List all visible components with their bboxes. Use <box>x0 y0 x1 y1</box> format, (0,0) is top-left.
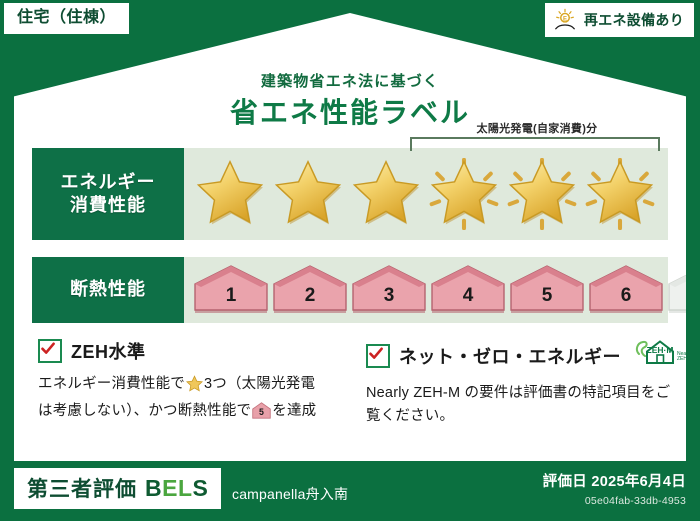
evaluation-date-value: 2025年6月4日 <box>591 474 686 490</box>
svg-text:5: 5 <box>259 408 264 418</box>
bels-jp-label: 第三者評価 <box>27 473 137 503</box>
sparkling-star-icon <box>582 157 658 231</box>
zeh-m-logo: ZEH·M Nearly ZEH-M <box>634 338 698 373</box>
evaluation-id: 05e04fab-33db-4953 <box>585 495 686 507</box>
insulation-level-scale: 1 2 3 4 5 6 <box>184 257 668 323</box>
insulation-performance-row: 断熱性能 1 2 3 4 <box>32 257 668 323</box>
house-badge-icon: 4 <box>430 264 506 316</box>
house-badge-icon: 1 <box>193 264 269 316</box>
energy-label-line2: 消費性能 <box>70 194 146 217</box>
house-badge-icon: 7 <box>667 264 700 316</box>
zeh-body-part1: エネルギー消費性能で <box>38 376 185 392</box>
evaluation-date-label: 評価日 <box>543 474 587 490</box>
bels-letters-el: EL <box>162 475 192 501</box>
net-zero-checkbox <box>366 344 390 368</box>
energy-star-band: 太陽光発電(自家消費)分 <box>184 148 668 240</box>
zeh-standard-body: エネルギー消費性能で3つ（太陽光発電は考慮しない）、かつ断熱性能で5を達成 <box>38 373 356 428</box>
bels-letter-s: S <box>193 475 209 501</box>
bels-energy-label: 建築物省エネ法に基づく 省エネ性能ラベル エネルギー 消費性能 太陽光発電(自家… <box>0 0 700 521</box>
house-badge-icon: 5 <box>509 264 585 316</box>
bels-certification-box: 第三者評価 BELS <box>14 468 221 509</box>
inline-house-level-icon: 5 <box>252 402 271 427</box>
energy-performance-label: エネルギー 消費性能 <box>32 148 184 240</box>
energy-label-line1: エネルギー <box>61 171 156 194</box>
category-tag: 住宅（住棟） <box>4 3 129 34</box>
insulation-level-band: 1 2 3 4 5 6 <box>184 257 668 323</box>
house-badge-icon: 6 <box>588 264 664 316</box>
star-icon <box>270 157 346 231</box>
red-check-icon <box>369 347 383 361</box>
house-badge-icon: 3 <box>351 264 427 316</box>
star-rating <box>184 148 668 240</box>
building-name: campanella舟入南 <box>232 484 348 504</box>
svg-text:ZEH-M: ZEH-M <box>677 356 693 362</box>
star-icon <box>348 157 424 231</box>
net-zero-title: ネット・ゼロ・エネルギー <box>399 343 621 369</box>
zeh-standard-checkbox <box>38 339 62 363</box>
zeh-standard-heading: ZEH水準 <box>38 338 356 364</box>
sparkling-star-icon <box>426 157 502 231</box>
net-zero-body: Nearly ZEH-M の要件は評価書の特記項目をご覧ください。 <box>366 382 672 429</box>
house-badge-icon: 2 <box>272 264 348 316</box>
main-panel: 建築物省エネ法に基づく 省エネ性能ラベル エネルギー 消費性能 太陽光発電(自家… <box>14 13 686 461</box>
insulation-performance-label: 断熱性能 <box>32 257 184 323</box>
zeh-body-part2: 3つ（太陽光発電 <box>204 376 315 392</box>
zeh-body-part3: は考慮しない）、かつ断熱性能で <box>38 403 251 419</box>
svg-text:E: E <box>563 16 567 22</box>
solar-annotation-text: 太陽光発電(自家消費)分 <box>412 120 662 136</box>
red-check-icon <box>41 342 55 356</box>
insulation-label-text: 断熱性能 <box>70 278 146 301</box>
star-icon <box>192 157 268 231</box>
net-zero-energy-statement: ネット・ゼロ・エネルギー ZEH·M Nearly ZEH-M Nearly Z… <box>366 338 672 429</box>
inline-star-icon <box>186 375 203 400</box>
evaluation-date: 評価日 2025年6月4日 <box>543 470 686 491</box>
sparkling-star-icon <box>504 157 580 231</box>
renewable-badge-label: 再エネ設備あり <box>584 10 684 30</box>
bels-letter-b: B <box>145 475 162 501</box>
energy-performance-row: エネルギー 消費性能 太陽光発電(自家消費)分 <box>32 148 668 240</box>
label-subtitle: 建築物省エネ法に基づく <box>14 70 686 91</box>
renewable-energy-badge: E 再エネ設備あり <box>545 3 694 37</box>
zeh-standard-title: ZEH水準 <box>71 338 146 364</box>
zeh-body-part4: を達成 <box>272 403 316 419</box>
svg-text:ZEH·M: ZEH·M <box>647 345 674 355</box>
bels-en-logo: BELS <box>145 475 208 502</box>
net-zero-heading: ネット・ゼロ・エネルギー ZEH·M Nearly ZEH-M <box>366 338 672 373</box>
zeh-standard-statement: ZEH水準 エネルギー消費性能で3つ（太陽光発電は考慮しない）、かつ断熱性能で5… <box>38 338 356 428</box>
sun-solar-icon: E <box>553 8 577 32</box>
